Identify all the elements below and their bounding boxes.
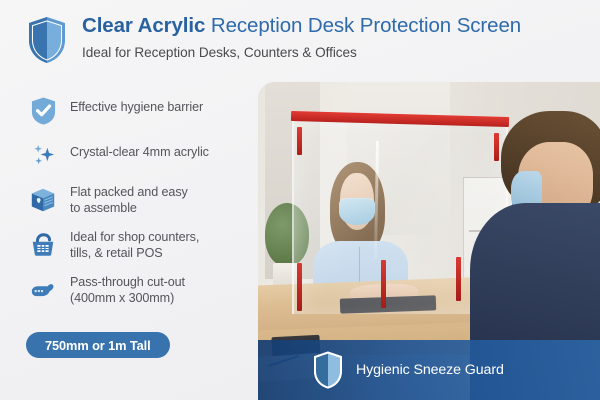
screen-stand-right — [456, 257, 461, 302]
product-photo: Hygienic Sneeze Guard — [258, 82, 600, 400]
size-badge: 750mm or 1m Tall — [26, 332, 170, 358]
banner-title: Clear Acrylic Reception Desk Protection … — [82, 15, 521, 38]
banner-subtitle: Ideal for Reception Desks, Counters & Of… — [82, 45, 521, 60]
sparkles-icon — [26, 138, 60, 172]
feature-item: Flat packed and easy to assemble — [26, 183, 258, 217]
shield-check-icon — [26, 93, 60, 127]
feature-label: Flat packed and easy to assemble — [70, 183, 188, 216]
header-text-block: Clear Acrylic Reception Desk Protection … — [82, 13, 521, 60]
size-badge-label: 750mm or 1m Tall — [45, 338, 151, 353]
banner-header: Clear Acrylic Reception Desk Protection … — [0, 0, 600, 82]
feature-label: Pass-through cut-out (400mm x 300mm) — [70, 273, 185, 306]
product-banner: Clear Acrylic Reception Desk Protection … — [0, 0, 600, 400]
feature-item: Ideal for shop counters, tills, & retail… — [26, 228, 258, 262]
shield-icon — [26, 15, 68, 65]
feature-label: Ideal for shop counters, tills, & retail… — [70, 228, 199, 261]
feature-item: Crystal-clear 4mm acrylic — [26, 138, 258, 172]
feature-list: Effective hygiene barrier Crystal-clear … — [26, 93, 258, 318]
feature-label: Effective hygiene barrier — [70, 93, 203, 115]
package-box-icon — [26, 183, 60, 217]
hygienic-badge: Hygienic Sneeze Guard — [258, 340, 600, 400]
feature-item: Effective hygiene barrier — [26, 93, 258, 127]
screen-stand-left — [297, 263, 302, 311]
screen-stand-center — [381, 260, 386, 308]
hand-reach-icon — [26, 273, 60, 307]
screen-glare — [373, 141, 378, 259]
feature-item: Pass-through cut-out (400mm x 300mm) — [26, 273, 258, 307]
banner-title-strong: Clear Acrylic — [82, 14, 205, 37]
shopping-basket-icon — [26, 228, 60, 262]
banner-title-rest: Reception Desk Protection Screen — [205, 14, 521, 37]
screen-clip-left — [297, 127, 302, 156]
hygienic-badge-label: Hygienic Sneeze Guard — [356, 362, 504, 378]
shield-icon — [313, 351, 343, 389]
feature-label: Crystal-clear 4mm acrylic — [70, 138, 209, 160]
screen-clip-right — [494, 133, 499, 162]
